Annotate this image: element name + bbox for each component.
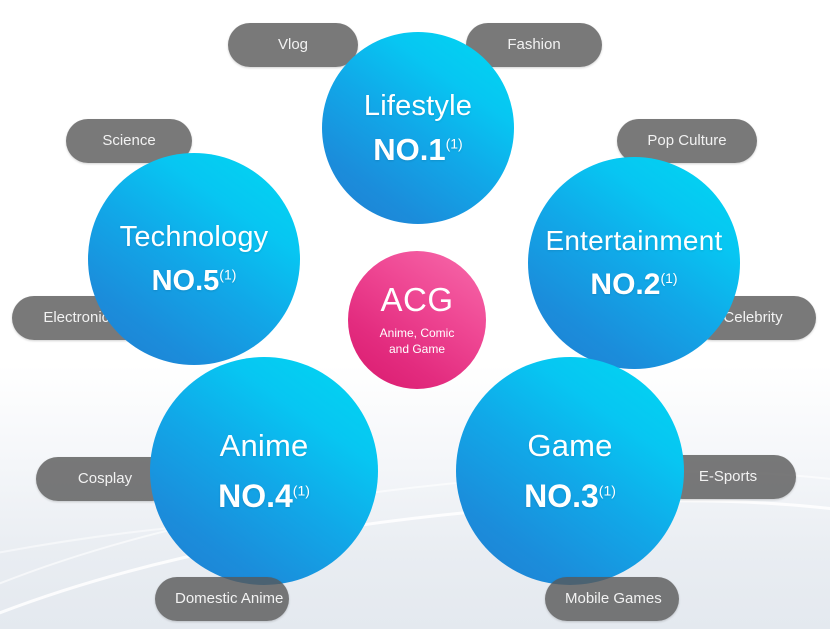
tag-label: Vlog: [278, 36, 308, 53]
center-title: ACG: [380, 283, 453, 316]
bubble-title: Anime: [220, 430, 309, 463]
center-subtitle-line1: Anime, Comic: [380, 325, 455, 341]
tag-label: E-Sports: [699, 468, 757, 485]
bubble-game[interactable]: Game NO.3(1): [456, 357, 684, 585]
bubble-rank: NO.5(1): [152, 267, 237, 296]
tag-label: Pop Culture: [647, 132, 726, 149]
bubble-technology[interactable]: Technology NO.5(1): [88, 153, 300, 365]
bubble-title: Technology: [120, 222, 269, 252]
diagram-canvas: Vlog Fashion Science Pop Culture Electro…: [0, 0, 830, 629]
bubble-rank-value: NO.1: [373, 132, 445, 167]
tag-pill-vlog[interactable]: Vlog: [228, 23, 358, 67]
bubble-title: Entertainment: [546, 226, 723, 255]
bubble-center-acg[interactable]: ACG Anime, Comic and Game: [348, 251, 486, 389]
tag-label: Domestic Anime: [175, 590, 283, 607]
center-subtitle: Anime, Comic and Game: [380, 325, 455, 357]
tag-label: Cosplay: [78, 470, 132, 487]
bubble-rank: NO.1(1): [373, 134, 462, 165]
bubble-rank-superscript: (1): [660, 270, 677, 286]
tag-label: Celebrity: [723, 309, 782, 326]
bubble-rank-superscript: (1): [219, 266, 236, 282]
tag-label: Science: [102, 132, 155, 149]
bubble-rank-value: NO.2: [590, 268, 660, 301]
bubble-rank-value: NO.5: [152, 265, 220, 297]
bubble-anime[interactable]: Anime NO.4(1): [150, 357, 378, 585]
bubble-lifestyle[interactable]: Lifestyle NO.1(1): [322, 32, 514, 224]
bubble-title: Game: [527, 430, 612, 463]
bubble-rank: NO.2(1): [590, 270, 677, 300]
tag-label: Fashion: [507, 36, 560, 53]
bubble-rank-value: NO.4: [218, 478, 293, 514]
bubble-rank-value: NO.3: [524, 478, 599, 514]
tag-pill-domestic-anime[interactable]: Domestic Anime: [155, 577, 289, 621]
center-subtitle-line2: and Game: [380, 341, 455, 357]
bubble-rank: NO.3(1): [524, 480, 616, 512]
bubble-rank: NO.4(1): [218, 480, 310, 512]
tag-label: Mobile Games: [565, 590, 662, 607]
bubble-rank-superscript: (1): [599, 483, 616, 499]
bubble-rank-superscript: (1): [446, 135, 463, 151]
bubble-rank-superscript: (1): [293, 483, 310, 499]
tag-pill-mobile-games[interactable]: Mobile Games: [545, 577, 679, 621]
bubble-title: Lifestyle: [364, 91, 472, 121]
bubble-entertainment[interactable]: Entertainment NO.2(1): [528, 157, 740, 369]
